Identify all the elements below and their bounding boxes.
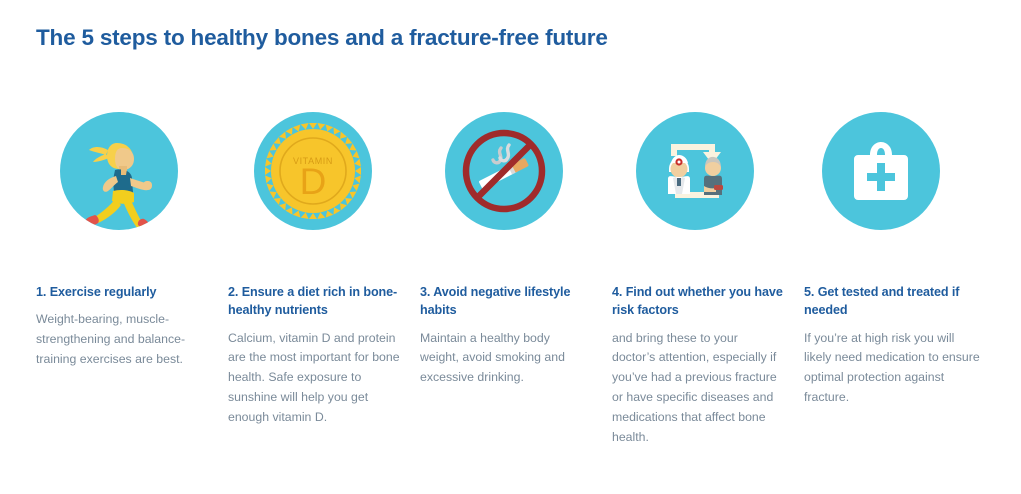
step-body-4: and bring these to your doctor’s attenti… [612, 329, 784, 448]
step-text-3: 3. Avoid negative lifestyle habits Maint… [420, 283, 612, 388]
step-heading-5: 5. Get tested and treated if needed [804, 283, 984, 320]
step-heading-3: 3. Avoid negative lifestyle habits [420, 283, 592, 320]
step-body-2: Calcium, vitamin D and protein are the m… [228, 329, 400, 429]
vitamin-d-letter: D [300, 161, 327, 202]
step-text-5: 5. Get tested and treated if needed If y… [804, 283, 1004, 408]
patient-figure [704, 157, 723, 195]
step-body-1: Weight-bearing, muscle-strengthening and… [36, 310, 208, 370]
no-smoking-icon [445, 112, 563, 230]
step-card-5: 5. Get tested and treated if needed If y… [804, 112, 1004, 448]
step-card-3: 3. Avoid negative lifestyle habits Maint… [420, 112, 612, 448]
vitamin-d-badge-icon: VITAMIN D [254, 112, 372, 230]
step-heading-2: 2. Ensure a diet rich in bone-healthy nu… [228, 283, 400, 320]
step-heading-1: 1. Exercise regularly [36, 283, 208, 301]
steps-row: 1. Exercise regularly Weight-bearing, mu… [0, 112, 1021, 448]
step-heading-4: 4. Find out whether you have risk factor… [612, 283, 784, 320]
doctor-patient-cycle-icon [636, 112, 754, 230]
step-card-2: VITAMIN D 2. Ensure a diet rich in bone-… [228, 112, 420, 448]
doctor-figure [668, 155, 690, 194]
step-body-5: If you’re at high risk you will likely n… [804, 329, 984, 409]
step-text-4: 4. Find out whether you have risk factor… [612, 283, 804, 448]
step-card-4: 4. Find out whether you have risk factor… [612, 112, 804, 448]
medical-bag-icon [822, 112, 940, 230]
page-title: The 5 steps to healthy bones and a fract… [36, 25, 608, 51]
step-body-3: Maintain a healthy body weight, avoid sm… [420, 329, 592, 389]
running-woman-icon [60, 112, 178, 230]
step-text-1: 1. Exercise regularly Weight-bearing, mu… [36, 283, 228, 370]
step-card-1: 1. Exercise regularly Weight-bearing, mu… [36, 112, 228, 448]
infographic-page: The 5 steps to healthy bones and a fract… [0, 0, 1021, 494]
step-text-2: 2. Ensure a diet rich in bone-healthy nu… [228, 283, 420, 428]
